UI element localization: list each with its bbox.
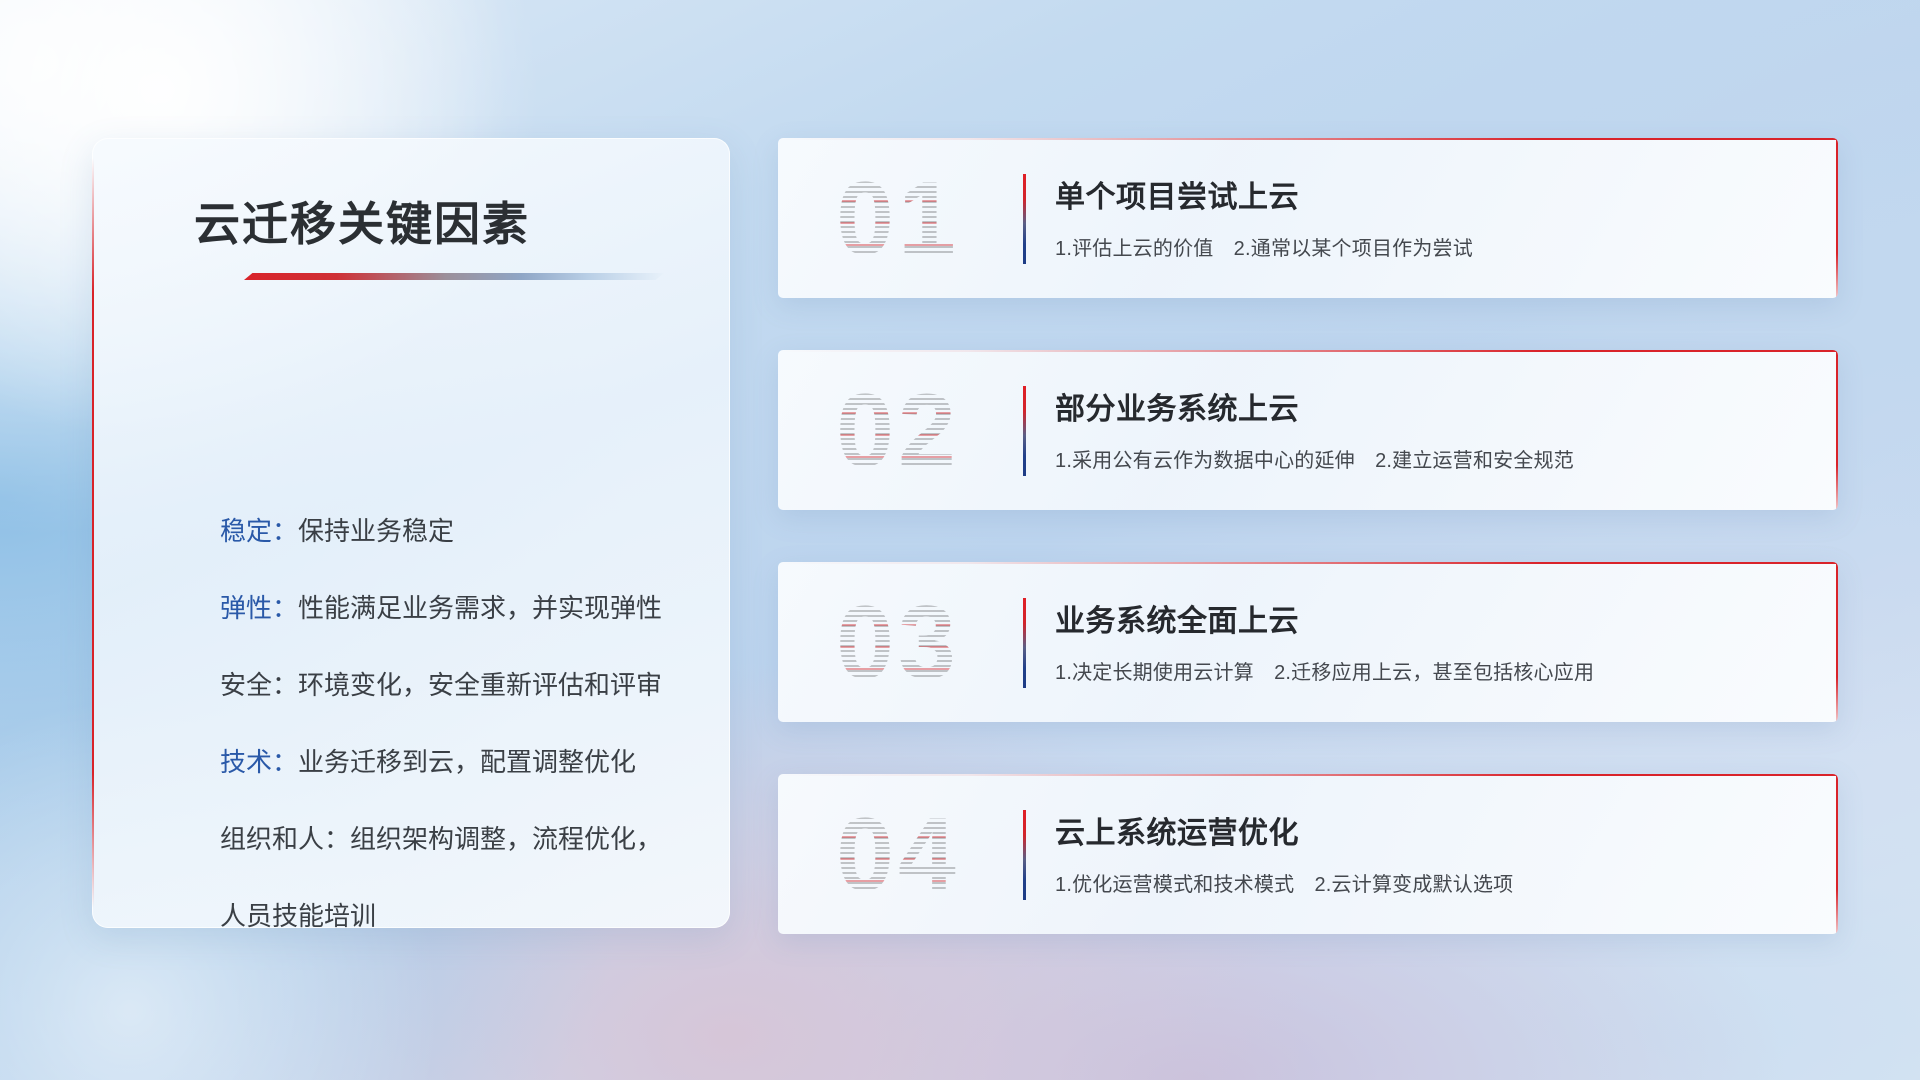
factor-text: 组织架构调整，流程优化， (350, 824, 662, 854)
stage-number-red-overlay: 04 (808, 792, 988, 918)
factor-key: 安全： (220, 670, 298, 700)
factor-key: 技术： (220, 747, 298, 777)
stage-card[interactable]: 01 01 单个项目尝试上云 1.评估上云的价值 2.通常以某个项目作为尝试 (778, 138, 1838, 298)
factor-text: 业务迁移到云，配置调整优化 (298, 747, 636, 777)
card-divider-bar (1023, 174, 1026, 264)
stage-subtitle: 1.决定长期使用云计算 2.迁移应用上云，甚至包括核心应用 (1055, 656, 1594, 685)
stage-subtitle: 1.优化运营模式和技术模式 2.云计算变成默认选项 (1055, 868, 1513, 897)
list-item: 安全：环境变化，安全重新评估和评审 (220, 672, 690, 698)
stage-number-red-overlay: 01 (808, 156, 988, 282)
card-divider-bar (1023, 386, 1026, 476)
factor-text: 人员技能培训 (220, 901, 376, 928)
stage-card[interactable]: 03 03 业务系统全面上云 1.决定长期使用云计算 2.迁移应用上云，甚至包括… (778, 562, 1838, 722)
list-item: 技术：业务迁移到云，配置调整优化 (220, 749, 690, 775)
stage-number-red-overlay: 02 (808, 368, 988, 494)
stage-title: 业务系统全面上云 (1055, 596, 1299, 640)
factor-text: 保持业务稳定 (298, 516, 454, 546)
stage-subtitle: 1.采用公有云作为数据中心的延伸 2.建立运营和安全规范 (1055, 444, 1574, 473)
stage-title: 部分业务系统上云 (1055, 384, 1299, 428)
list-item: 组织和人：组织架构调整，流程优化， (220, 826, 690, 852)
key-factors-panel: 云迁移关键因素 稳定：保持业务稳定 弹性：性能满足业务需求，并实现弹性 安全：环… (92, 138, 730, 928)
stage-card[interactable]: 02 02 部分业务系统上云 1.采用公有云作为数据中心的延伸 2.建立运营和安… (778, 350, 1838, 510)
factor-list: 稳定：保持业务稳定 弹性：性能满足业务需求，并实现弹性 安全：环境变化，安全重新… (220, 518, 690, 928)
list-item: 弹性：性能满足业务需求，并实现弹性 (220, 595, 690, 621)
factor-key: 弹性： (220, 593, 298, 623)
stage-subtitle: 1.评估上云的价值 2.通常以某个项目作为尝试 (1055, 232, 1473, 261)
stage-title: 单个项目尝试上云 (1055, 172, 1299, 216)
factor-text: 性能满足业务需求，并实现弹性 (298, 593, 662, 623)
card-divider-bar (1023, 810, 1026, 900)
list-item: 稳定：保持业务稳定 (220, 518, 690, 544)
stage-title: 云上系统运营优化 (1055, 808, 1299, 852)
card-divider-bar (1023, 598, 1026, 688)
stage-card[interactable]: 04 04 云上系统运营优化 1.优化运营模式和技术模式 2.云计算变成默认选项 (778, 774, 1838, 934)
factor-key: 稳定： (220, 516, 298, 546)
factor-key: 组织和人： (220, 824, 350, 854)
title-underline-rule (244, 273, 664, 280)
page-title: 云迁移关键因素 (194, 188, 530, 254)
list-item: 人员技能培训 (220, 903, 690, 928)
stage-number-red-overlay: 03 (808, 580, 988, 706)
factor-text: 环境变化，安全重新评估和评审 (298, 670, 662, 700)
stage-card-list: 01 01 单个项目尝试上云 1.评估上云的价值 2.通常以某个项目作为尝试 0… (778, 138, 1838, 934)
